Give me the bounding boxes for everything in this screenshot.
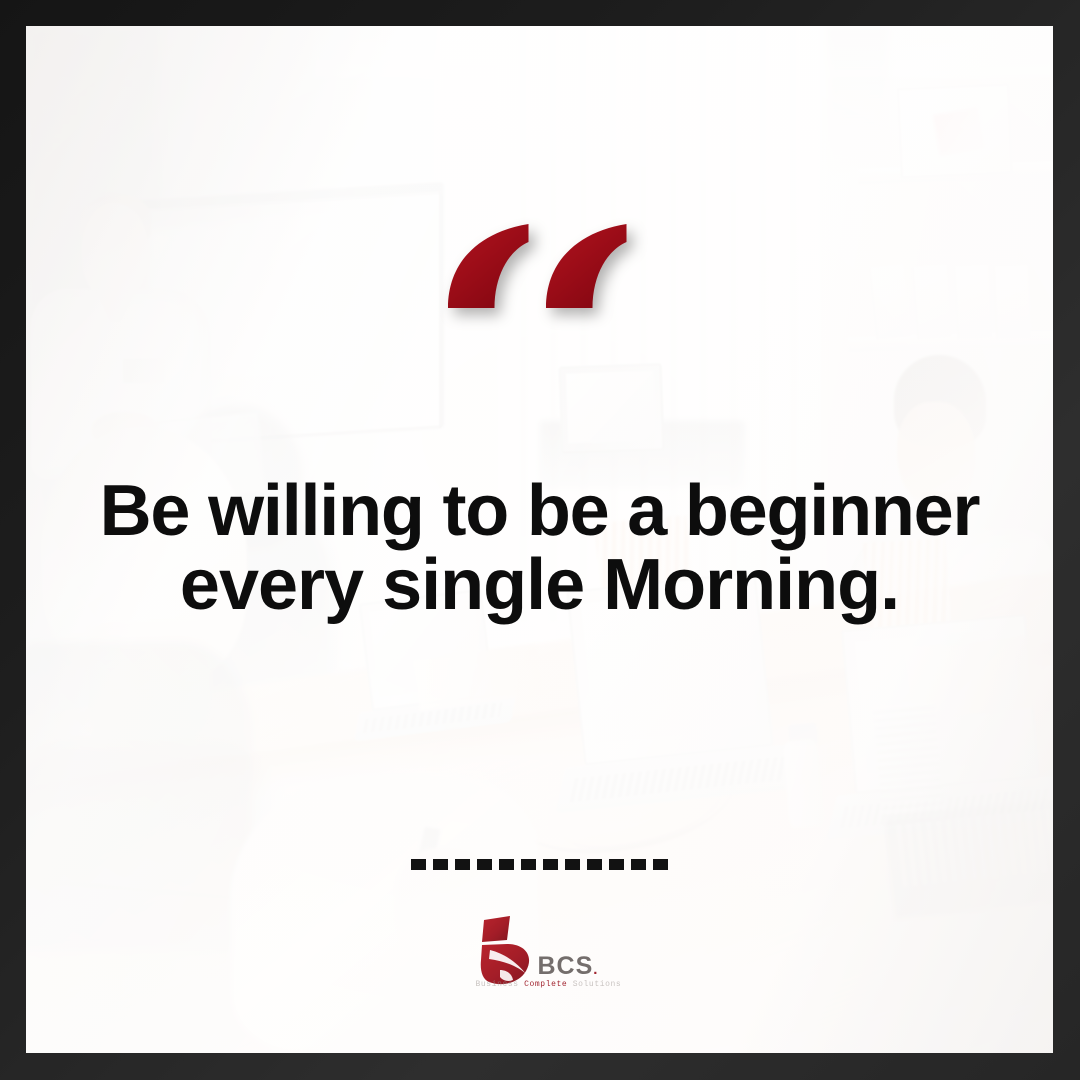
divider-dash <box>543 859 558 870</box>
divider-dash <box>433 859 448 870</box>
divider-dash <box>411 859 426 870</box>
divider-dash <box>609 859 624 870</box>
divider-dash <box>653 859 668 870</box>
tagline-accent: Complete <box>524 980 567 989</box>
divider-dash <box>631 859 646 870</box>
divider-dash <box>477 859 492 870</box>
divider-dash <box>499 859 514 870</box>
logo-name: BCS <box>538 952 594 980</box>
divider-dash <box>521 859 536 870</box>
divider-dash <box>587 859 602 870</box>
headline-line-2: every single Morning. <box>86 548 993 622</box>
logo-tagline: Business Complete Solutions <box>476 980 604 989</box>
divider-dash <box>455 859 470 870</box>
card-canvas: Be willing to be a beginner every single… <box>26 26 1053 1053</box>
quote-headline: Be willing to be a beginner every single… <box>26 474 1053 622</box>
divider-dash <box>565 859 580 870</box>
dashed-divider-icon <box>26 859 1053 870</box>
quote-card: Be willing to be a beginner every single… <box>0 0 1080 1080</box>
logo-wordmark: BCS. <box>538 952 599 981</box>
headline-line-1: Be willing to be a beginner <box>86 474 993 548</box>
card-content: Be willing to be a beginner every single… <box>26 26 1053 1053</box>
brand-logo[interactable]: BCS. Business Complete Solutions <box>26 914 1053 1006</box>
quote-glyph-left <box>448 224 529 308</box>
quotation-mark-icon <box>26 224 1053 308</box>
tagline-prefix: Business <box>476 980 525 989</box>
quote-glyph-right <box>546 224 627 308</box>
tagline-suffix: Solutions <box>567 980 621 989</box>
logo-wrap: BCS. Business Complete Solutions <box>476 914 604 1006</box>
logo-name-dot: . <box>593 961 598 978</box>
bcs-leaf-mark-icon <box>476 914 538 988</box>
